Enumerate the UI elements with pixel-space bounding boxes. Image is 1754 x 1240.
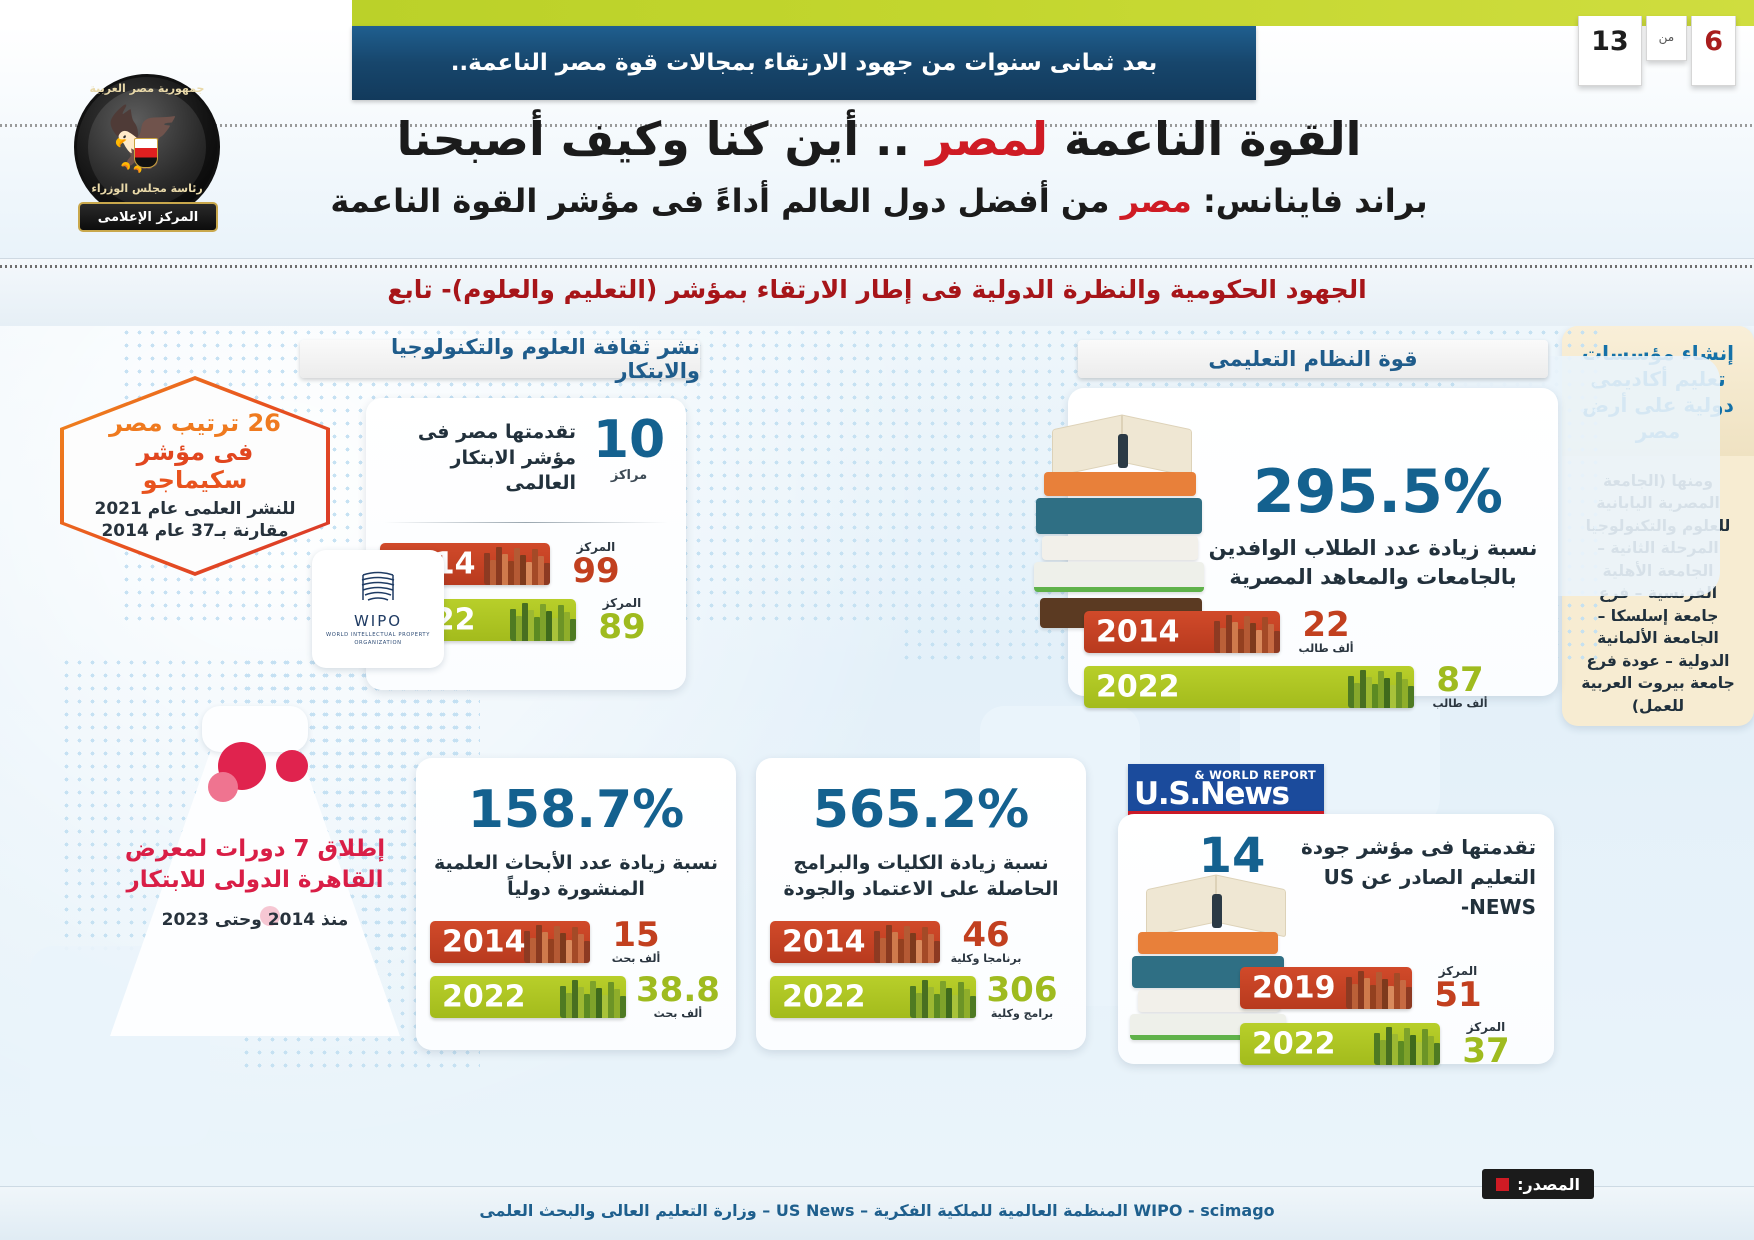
year-bar-number: 22	[1290, 608, 1362, 642]
year-bar-label: 2022	[782, 979, 866, 1014]
programs-percent: 565.2%	[756, 784, 1086, 836]
infographic-page: 13 من 6 بعد ثمانى سنوات من جهود الارتقاء…	[0, 0, 1754, 1240]
year-bar-row: المركز512019	[1240, 964, 1540, 1012]
flask-text: إطلاق 7 دورات لمعرض القاهرة الدولى للابت…	[120, 834, 390, 930]
year-bar: 2022	[770, 976, 976, 1018]
innovation-section-header: نشر ثقافة العلوم والتكنولوجيا والابتكار	[300, 340, 700, 378]
wipo-description: تقدمتها مصر فى مؤشر الابتكار العالمى	[380, 414, 576, 497]
year-bar: 2022	[1240, 1023, 1440, 1065]
flask-bubble-3	[208, 772, 238, 802]
year-bar-unit: ألف طالب	[1290, 642, 1362, 655]
year-bar-row: 46برنامجا وكلية2014	[770, 918, 1072, 965]
year-bar-label: 2014	[1096, 614, 1180, 649]
education-year-bars: 22ألف طالب201487ألف طالب2022	[1084, 608, 1542, 718]
scimago-line-1: 26 ترتيب مصر	[109, 409, 281, 437]
year-bar-number: 51	[1422, 978, 1494, 1012]
scimago-hexagon: 26 ترتيب مصر فى مؤشر سكيماجو للنشر العلم…	[60, 376, 330, 576]
page-current-tab: 6	[1691, 16, 1736, 86]
year-bar-row: 15ألف بحث2014	[430, 918, 722, 965]
title-highlight: لمصر	[926, 112, 1048, 166]
accredited-programs-card: 565.2% نسبة زيادة الكليات والبرامج الحاص…	[756, 758, 1086, 1050]
page-of-tab: من	[1646, 16, 1688, 61]
top-white-notch	[0, 0, 352, 26]
year-bar: 2019	[1240, 967, 1412, 1009]
bar-books-texture	[524, 921, 590, 963]
education-section-header: قوة النظام التعليمى	[1078, 340, 1548, 378]
subtitle-part-a: براند فاينانس:	[1192, 182, 1428, 220]
book-4	[1034, 562, 1204, 592]
wipo-number-unit: مراكز	[586, 468, 672, 483]
scimago-line-3: سكيماجو	[143, 466, 248, 494]
section-title-bar: الجهود الحكومية والنظرة الدولية فى إطار …	[0, 258, 1754, 326]
year-bar-number: 89	[586, 610, 658, 644]
year-bar-value: 306برامج وكلية	[986, 973, 1058, 1020]
page-total: 13	[1591, 28, 1629, 55]
research-papers-card: 158.7% نسبة زيادة عدد الأبحاث العلمية ال…	[416, 758, 736, 1050]
wipo-logo: WIPO WORLD INTELLECTUAL PROPERTY ORGANIZ…	[312, 550, 444, 668]
year-bar-value: المركز51	[1422, 964, 1494, 1012]
year-bar-unit: برامج وكلية	[986, 1007, 1058, 1020]
year-bar-value: المركز89	[586, 596, 658, 644]
year-bar: 2022	[1084, 666, 1414, 708]
year-bar-label: 2022	[442, 979, 526, 1014]
bar-books-texture	[910, 976, 976, 1018]
open-book-spine	[1118, 434, 1128, 468]
foreign-students-description: نسبة زيادة عدد الطلاب الوافدين بالجامعات…	[1208, 534, 1538, 592]
year-bar-label: 2022	[1252, 1027, 1336, 1062]
year-bar: 2014	[430, 921, 590, 963]
book-3	[1042, 536, 1198, 560]
source-label: المصدر:	[1517, 1175, 1580, 1194]
usnews-logo-name: U.S.News	[1134, 776, 1289, 812]
year-bar-label: 2014	[782, 924, 866, 959]
source-label-tab: المصدر:	[1482, 1169, 1594, 1199]
page-subtitle: براند فاينانس: مصر من أفضل دول العالم أد…	[264, 182, 1494, 220]
open-book-right-page	[1122, 415, 1192, 478]
scimago-line-4: للنشر العلمى عام 2021 مقارنة بـ37 عام 20…	[70, 498, 320, 542]
year-bar-row: 306برامج وكلية2022	[770, 973, 1072, 1020]
section-title: الجهود الحكومية والنظرة الدولية فى إطار …	[0, 275, 1754, 304]
programs-description: نسبة زيادة الكليات والبرامج الحاصلة على …	[774, 850, 1068, 902]
bar-books-texture	[1374, 1023, 1440, 1065]
bar-books-texture	[560, 976, 626, 1018]
year-bar-row: المركز372022	[1240, 1020, 1540, 1068]
open-book-icon	[1048, 414, 1198, 472]
innovation-section-label: نشر ثقافة العلوم والتكنولوجيا والابتكار	[300, 335, 700, 383]
year-bar-number: 99	[560, 554, 632, 588]
hexagon-content: 26 ترتيب مصر فى مؤشر سكيماجو للنشر العلم…	[60, 376, 330, 576]
logo-arc-top-text: جمهورية مصر العربية	[72, 82, 222, 95]
innovation-fair-flask: إطلاق 7 دورات لمعرض القاهرة الدولى للابت…	[110, 706, 400, 1036]
source-text: WIPO - scimago المنظمة العالمية للملكية …	[0, 1201, 1754, 1220]
year-bar-number: 15	[600, 918, 672, 952]
year-bar-value: المركز37	[1450, 1020, 1522, 1068]
year-bar-unit: برنامجا وكلية	[950, 952, 1022, 965]
year-bar-row: 87ألف طالب2022	[1084, 663, 1542, 710]
research-percent: 158.7%	[416, 784, 736, 836]
bar-books-texture	[484, 543, 550, 585]
header-banner: بعد ثمانى سنوات من جهود الارتقاء بمجالات…	[352, 26, 1256, 100]
egypt-flag-icon	[134, 138, 158, 168]
year-bar-value: 46برنامجا وكلية	[950, 918, 1022, 965]
year-bar: 2014	[770, 921, 940, 963]
foreign-students-percent: 295.5%	[1218, 462, 1538, 522]
year-bar-unit: ألف بحث	[600, 952, 672, 965]
wipo-divider	[384, 522, 668, 523]
bar-books-texture	[1346, 967, 1412, 1009]
logo-arc-bottom-text: رئاسة مجلس الوزراء	[72, 182, 222, 195]
research-description: نسبة زيادة عدد الأبحاث العلمية المنشورة …	[434, 850, 718, 902]
flask-bubble-2	[276, 750, 308, 782]
usnews-book-spine	[1212, 894, 1222, 928]
usnews-open-book-icon	[1142, 874, 1292, 932]
bar-books-texture	[1348, 666, 1414, 708]
year-bar: 2022	[430, 976, 626, 1018]
wipo-number-group: 10 مراكز	[586, 414, 672, 483]
section-dotted-rule	[0, 265, 1754, 268]
main-canvas: نشر ثقافة العلوم والتكنولوجيا والابتكار …	[0, 326, 1754, 1186]
year-bar-value: المركز99	[560, 540, 632, 588]
flask-line-2: منذ 2014 وحتى 2023	[120, 910, 390, 930]
year-bar-value: 38.8ألف بحث	[636, 973, 720, 1020]
year-bar-number: 37	[1450, 1034, 1522, 1068]
page-number-group: 13 من 6	[1578, 16, 1736, 86]
book-1	[1044, 472, 1196, 496]
year-bar-label: 2014	[442, 924, 526, 959]
research-year-bars: 15ألف بحث201438.8ألف بحث2022	[430, 918, 722, 1028]
bar-books-texture	[510, 599, 576, 641]
year-bar-value: 15ألف بحث	[600, 918, 672, 965]
usnews-description: تقدمتها فى مؤشر جودة التعليم الصادر عن U…	[1286, 832, 1536, 922]
year-bar: 2014	[1084, 611, 1280, 653]
open-book-left-page	[1052, 415, 1122, 478]
year-bar-value: 87ألف طالب	[1424, 663, 1496, 710]
header-banner-text: بعد ثمانى سنوات من جهود الارتقاء بمجالات…	[451, 50, 1158, 76]
wipo-number: 10	[586, 414, 672, 466]
year-bar-row: 22ألف طالب2014	[1084, 608, 1542, 655]
year-bar-row: 38.8ألف بحث2022	[430, 973, 722, 1020]
year-bar-label: 2019	[1252, 971, 1336, 1006]
usnews-book-left-page	[1146, 875, 1216, 938]
wipo-logo-subtitle: WORLD INTELLECTUAL PROPERTY ORGANIZATION	[312, 632, 444, 648]
year-bar-number: 46	[950, 918, 1022, 952]
page-total-tab: 13	[1578, 16, 1642, 86]
bar-books-texture	[1214, 611, 1280, 653]
wipo-mark-icon	[353, 571, 403, 609]
year-bar-number: 306	[986, 973, 1058, 1007]
year-bar-label: 2022	[1096, 669, 1180, 704]
wipo-card-top: 10 مراكز تقدمتها مصر فى مؤشر الابتكار ال…	[380, 414, 672, 497]
title-part-a: القوة الناعمة	[1048, 112, 1361, 166]
source-square-icon	[1496, 1178, 1509, 1191]
usnews-book-right-page	[1216, 875, 1286, 938]
scimago-line-2: فى مؤشر	[137, 438, 254, 466]
programs-year-bars: 46برنامجا وكلية2014306برامج وكلية2022	[770, 918, 1072, 1028]
source-bar: المصدر: WIPO - scimago المنظمة العالمية …	[0, 1186, 1754, 1240]
usnews-number: 14	[1186, 832, 1278, 880]
year-bar-number: 38.8	[636, 973, 720, 1007]
usnews-education-card: تقدمتها فى مؤشر جودة التعليم الصادر عن U…	[1118, 814, 1554, 1064]
usnews-year-bars: المركز512019المركز372022	[1240, 964, 1540, 1076]
page-of-label: من	[1659, 30, 1675, 44]
year-bar-unit: ألف طالب	[1424, 697, 1496, 710]
page-current: 6	[1704, 28, 1723, 55]
year-bar-number: 87	[1424, 663, 1496, 697]
logo-ribbon-text: المركز الإعلامى	[78, 202, 218, 232]
education-section-label: قوة النظام التعليمى	[1208, 347, 1417, 371]
usnews-book-1	[1138, 932, 1278, 954]
subtitle-part-b: من أفضل دول العالم أداءً فى مؤشر القوة ا…	[330, 182, 1120, 220]
foreign-students-card: 295.5% نسبة زيادة عدد الطلاب الوافدين با…	[1068, 388, 1558, 696]
title-part-b: .. أين كنا وكيف أصبحنا	[397, 112, 926, 166]
government-logo: جمهورية مصر العربية 🦅 رئاسة مجلس الوزراء…	[62, 70, 232, 240]
bar-books-texture	[874, 921, 940, 963]
page-title: القوة الناعمة لمصر .. أين كنا وكيف أصبحن…	[264, 112, 1494, 166]
subtitle-highlight: مصر	[1121, 182, 1192, 220]
year-bar-value: 22ألف طالب	[1290, 608, 1362, 655]
wipo-logo-name: WIPO	[354, 612, 402, 630]
book-2	[1036, 498, 1202, 534]
flask-line-1: إطلاق 7 دورات لمعرض القاهرة الدولى للابت…	[120, 834, 390, 896]
usnews-logo: & WORLD REPORT U.S.News	[1128, 764, 1324, 818]
